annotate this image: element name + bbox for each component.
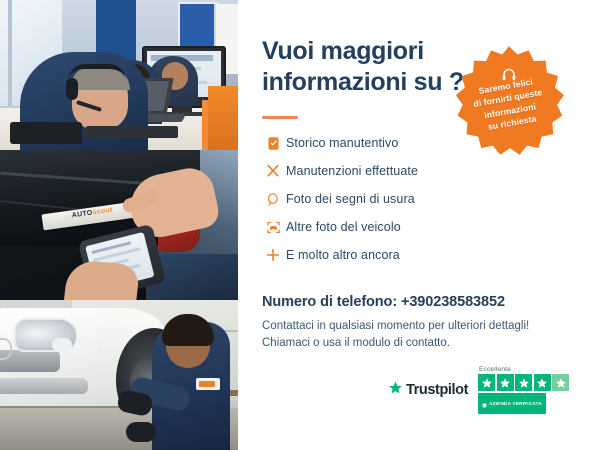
phone-number-line: Numero di telefono: +390238583852 [262, 294, 505, 310]
inspection-photo: AUTOscout [0, 150, 238, 300]
trustpilot-rating: Eccellente [478, 366, 578, 414]
list-item-label: Altre foto del veicolo [286, 220, 401, 234]
trustpilot-widget[interactable]: Trustpilot Eccellente [388, 366, 578, 414]
workshop-photo [0, 300, 238, 450]
clipboard-check-icon [260, 136, 286, 151]
list-item: Manutenzioni effettuate [260, 158, 560, 184]
tools-cross-icon [260, 163, 286, 179]
headlight-lens [52, 338, 72, 352]
orange-object [208, 86, 238, 150]
page-title-line2: informazioni su ? [262, 67, 472, 98]
list-item-label: E molto altro ancora [286, 248, 400, 262]
verified-label: AZIENDA VERIFICATA [489, 401, 542, 406]
mechanic [152, 322, 230, 450]
list-item-label: Manutenzioni effettuate [286, 164, 418, 178]
contact-text-line2: Chiamaci o usa il modulo di contatto. [262, 337, 450, 349]
photo-column: AUTOscout [0, 0, 238, 450]
headset-earcup [66, 78, 78, 100]
scan-car-icon [260, 220, 286, 235]
page-title-line1: Vuoi maggiori [262, 36, 472, 67]
info-badge: Saremo felici di fornirti queste informa… [452, 44, 566, 158]
star-icon-partial [552, 374, 569, 391]
list-item-label: Storico manutentivo [286, 136, 398, 150]
star-icon [388, 380, 403, 400]
headlight [14, 318, 78, 352]
plus-icon [260, 247, 286, 263]
list-item-label: Foto dei segni di usura [286, 192, 415, 206]
title-divider [262, 116, 298, 119]
page-title: Vuoi maggiori informazioni su ? [262, 36, 472, 98]
uniform-logo [196, 378, 220, 390]
keyboard [86, 126, 178, 138]
ruler-brand: AUTOscout [71, 207, 113, 220]
list-item: E molto altro ancora [260, 242, 560, 268]
star-rating [478, 374, 578, 391]
content-panel: Vuoi maggiori informazioni su ? Storico … [238, 0, 600, 450]
promo-banner: AUTOscout [0, 0, 600, 450]
glove-lower [126, 422, 156, 442]
car-lower-grille [0, 378, 88, 394]
call-center-photo [0, 0, 238, 150]
trustpilot-brand: Trustpilot [406, 382, 468, 398]
rating-label: Eccellente [479, 366, 578, 373]
star-icon [534, 374, 551, 391]
contact-text-line1: Contattaci in qualsiasi momento per ulte… [262, 320, 529, 332]
star-icon [515, 374, 532, 391]
trustpilot-logo: Trustpilot [388, 380, 468, 400]
star-icon [497, 374, 514, 391]
list-item: Foto dei segni di usura [260, 186, 560, 212]
check-badge-icon [482, 395, 487, 413]
verified-badge: AZIENDA VERIFICATA [478, 393, 546, 414]
list-item: Altre foto del veicolo [260, 214, 560, 240]
magnifier-icon [260, 192, 286, 207]
star-icon [478, 374, 495, 391]
headset-band [68, 64, 126, 81]
tablet-on-desk [10, 122, 82, 144]
